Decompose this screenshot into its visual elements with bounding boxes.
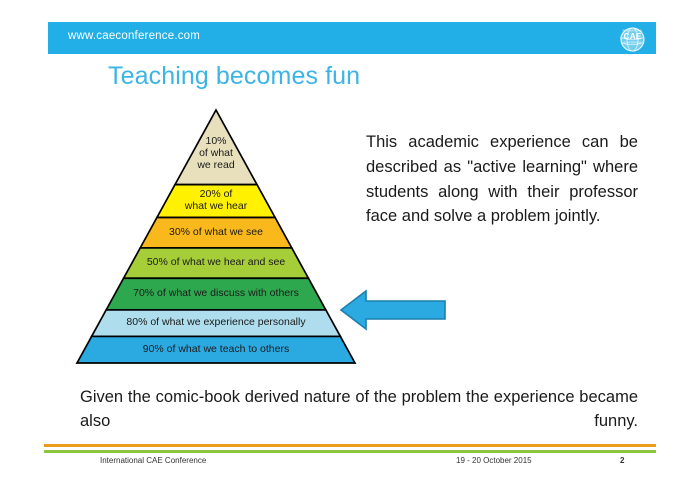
pyramid-tier-90 <box>77 336 355 363</box>
footer-page-number: 2 <box>620 456 624 465</box>
page-title: Teaching becomes fun <box>108 62 360 91</box>
cae-logo-icon: CAE INTERNATIONAL CONFERENCE <box>618 24 647 53</box>
header-bar: www.caeconference.com CAE INTERNATIONAL … <box>48 22 656 54</box>
svg-text:CONFERENCE: CONFERENCE <box>624 41 642 44</box>
footer-rule-orange <box>44 444 656 447</box>
footer-conference-name: International CAE Conference <box>100 456 206 465</box>
pointer-arrow-icon <box>338 288 448 332</box>
right-paragraph: This academic experience can be describe… <box>366 130 638 229</box>
pyramid-tier-50 <box>124 248 309 278</box>
svg-text:CAE: CAE <box>624 31 642 41</box>
footer-rule-green <box>44 450 656 453</box>
pyramid-tier-10 <box>175 110 257 185</box>
pyramid-tier-20 <box>157 185 275 218</box>
bottom-paragraph: Given the comic-book derived nature of t… <box>80 386 638 458</box>
pyramid-tier-80 <box>92 310 341 337</box>
slide-canvas: www.caeconference.com CAE INTERNATIONAL … <box>0 0 700 495</box>
pyramid-svg <box>74 108 358 366</box>
header-url-text: www.caeconference.com <box>68 30 200 42</box>
pyramid-tier-70 <box>106 278 326 310</box>
learning-pyramid: 10% of what we read20% of what we hear30… <box>74 108 358 366</box>
footer-date: 19 - 20 October 2015 <box>456 456 532 465</box>
svg-text:INTERNATIONAL: INTERNATIONAL <box>623 30 643 33</box>
pyramid-tier-30 <box>140 218 292 248</box>
